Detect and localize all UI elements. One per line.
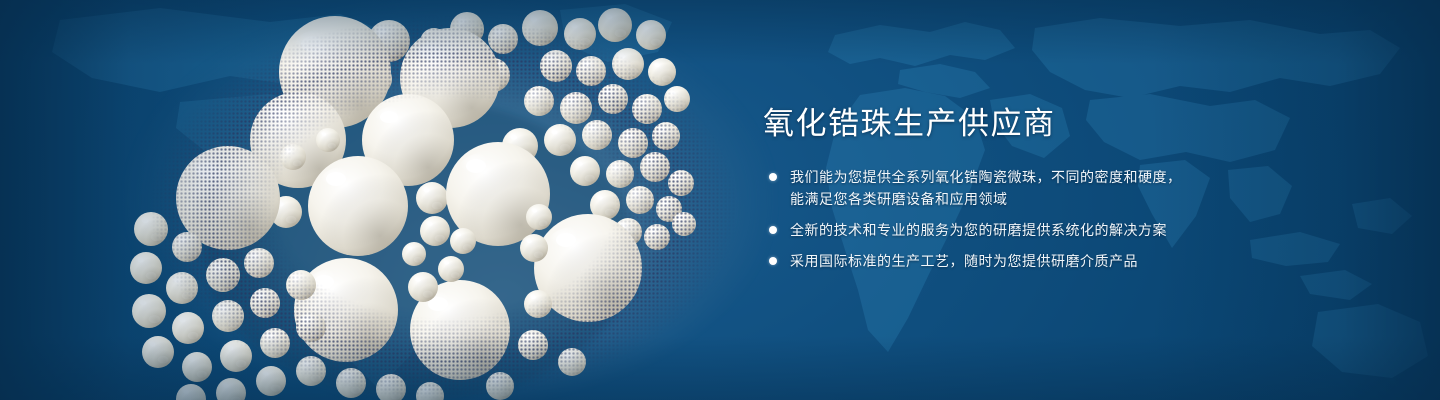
bullet-dot-icon — [769, 226, 777, 234]
bullet-3-line-1: 采用国际标准的生产工艺，随时为您提供研磨介质产品 — [790, 250, 1323, 272]
banner-text-column: 氧化锆珠生产供应商 我们能为您提供全系列氧化锆陶瓷微珠，不同的密度和硬度， 能满… — [763, 104, 1323, 272]
bullet-dot-icon — [769, 257, 777, 265]
bullet-item-3: 采用国际标准的生产工艺，随时为您提供研磨介质产品 — [763, 250, 1323, 272]
bullet-1-line-1: 我们能为您提供全系列氧化锆陶瓷微珠，不同的密度和硬度， — [790, 166, 1323, 188]
banner-bullet-list: 我们能为您提供全系列氧化锆陶瓷微珠，不同的密度和硬度， 能满足您各类研磨设备和应… — [763, 166, 1323, 272]
bullet-dot-icon — [769, 173, 777, 181]
zirconia-beads-photo — [120, 0, 780, 400]
banner-headline: 氧化锆珠生产供应商 — [763, 104, 1323, 144]
bullet-2-line-1: 全新的技术和专业的服务为您的研磨提供系统化的解决方案 — [790, 219, 1323, 241]
hero-banner: 氧化锆珠生产供应商 我们能为您提供全系列氧化锆陶瓷微珠，不同的密度和硬度， 能满… — [0, 0, 1440, 400]
bullet-item-2: 全新的技术和专业的服务为您的研磨提供系统化的解决方案 — [763, 219, 1323, 241]
bullet-item-1: 我们能为您提供全系列氧化锆陶瓷微珠，不同的密度和硬度， 能满足您各类研磨设备和应… — [763, 166, 1323, 210]
bullet-1-line-2: 能满足您各类研磨设备和应用领域 — [790, 188, 1323, 210]
bead-cluster — [120, 0, 780, 400]
